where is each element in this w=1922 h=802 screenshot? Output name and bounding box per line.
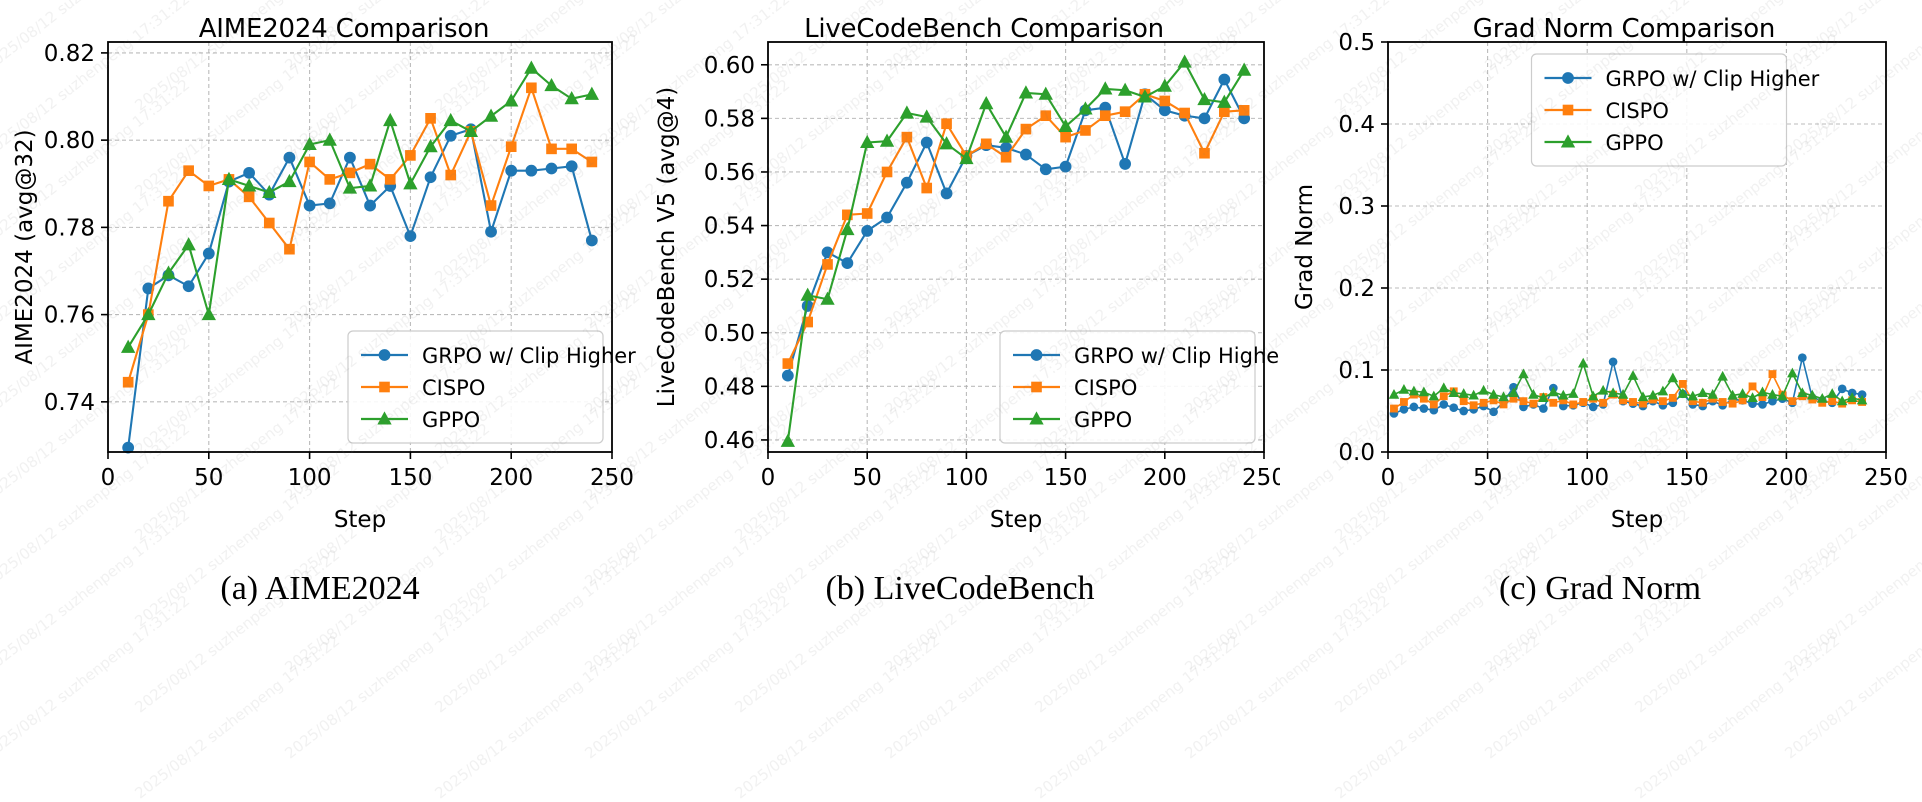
data-point-cispo [486, 200, 497, 211]
legend-label: CISPO [1074, 376, 1137, 400]
data-point-cispo [1500, 401, 1508, 409]
data-point-grpo-w-clip-higher [284, 152, 296, 164]
legend-label: CISPO [1606, 99, 1669, 123]
data-point-cispo [1669, 394, 1677, 402]
data-point-cispo [506, 141, 517, 152]
data-point-cispo [981, 139, 992, 150]
figure-row: AIME2024 Comparison 0501001502002500.740… [0, 0, 1922, 700]
data-point-cispo [862, 208, 873, 219]
data-point-grpo-w-clip-higher [1589, 403, 1598, 412]
legend-marker-square [1031, 382, 1042, 393]
x-axis-label: Step [1611, 507, 1663, 533]
data-point-cispo [425, 113, 436, 124]
subfigure-caption-c: (c) Grad Norm [1280, 570, 1920, 608]
panel-livecodebench: LiveCodeBench Comparison 050100150200250… [640, 0, 1280, 700]
chart-canvas-aime2024: 0501001502002500.740.760.780.800.82StepA… [0, 0, 640, 610]
data-point-grpo-w-clip-higher [1420, 404, 1429, 413]
data-point-cispo [1179, 108, 1190, 119]
y-tick-label: 0.58 [704, 106, 755, 132]
x-tick-label: 50 [1473, 465, 1502, 491]
legend: GRPO w/ Clip HigherCISPOGPPO [348, 331, 636, 443]
x-tick-label: 150 [388, 465, 432, 491]
data-point-grpo-w-clip-higher [525, 165, 537, 177]
data-point-cispo [1769, 370, 1777, 378]
x-tick-label: 150 [1665, 465, 1709, 491]
y-tick-label: 0.1 [1338, 358, 1375, 384]
data-point-cispo [183, 165, 194, 176]
data-point-cispo [365, 159, 376, 170]
data-point-grpo-w-clip-higher [1060, 161, 1072, 173]
data-point-cispo [244, 192, 255, 203]
x-tick-label: 0 [1381, 465, 1396, 491]
data-point-grpo-w-clip-higher [1838, 385, 1847, 394]
data-point-cispo [526, 82, 537, 93]
data-point-grpo-w-clip-higher [1040, 163, 1052, 175]
y-tick-label: 0.5 [1338, 30, 1375, 56]
legend-marker-circle [1562, 72, 1574, 84]
x-tick-label: 150 [1044, 465, 1088, 491]
data-point-grpo-w-clip-higher [505, 165, 517, 177]
data-point-cispo [324, 174, 335, 185]
legend: GRPO w/ Clip HigherCISPOGPPO [1532, 54, 1820, 166]
data-point-grpo-w-clip-higher [1119, 158, 1131, 170]
data-point-cispo [304, 157, 315, 168]
y-tick-label: 0.52 [704, 267, 755, 293]
legend: GRPO w/ Clip HigherCISPOGPPO [1000, 331, 1280, 443]
data-point-grpo-w-clip-higher [566, 160, 578, 172]
data-point-cispo [1440, 392, 1448, 400]
data-point-cispo [1659, 397, 1667, 405]
data-point-grpo-w-clip-higher [921, 137, 933, 149]
x-tick-label: 200 [489, 465, 533, 491]
y-tick-label: 0.76 [44, 303, 95, 329]
y-tick-label: 0.48 [704, 374, 755, 400]
x-tick-label: 250 [590, 465, 634, 491]
legend-marker-circle [379, 349, 391, 361]
y-tick-label: 0.3 [1338, 194, 1375, 220]
data-point-grpo-w-clip-higher [1400, 405, 1409, 414]
data-point-cispo [1460, 397, 1468, 405]
data-point-cispo [1199, 148, 1210, 159]
x-axis-label: Step [990, 507, 1042, 533]
data-point-cispo [1060, 132, 1071, 143]
data-point-cispo [1040, 110, 1051, 121]
data-point-cispo [1480, 399, 1488, 407]
data-point-cispo [1749, 382, 1757, 390]
data-point-cispo [385, 174, 396, 185]
data-point-cispo [566, 144, 577, 155]
data-point-cispo [405, 150, 416, 161]
y-tick-label: 0.82 [44, 41, 95, 67]
data-point-grpo-w-clip-higher [485, 226, 497, 238]
legend-label: CISPO [422, 376, 485, 400]
panel-gradnorm: Grad Norm Comparison 0501001502002500.00… [1280, 0, 1920, 700]
legend-label: GRPO w/ Clip Higher [1606, 67, 1820, 91]
data-point-cispo [1430, 401, 1438, 409]
legend-label: GRPO w/ Clip Higher [1074, 344, 1280, 368]
axes-gradnorm: 0501001502002500.00.10.20.30.40.5StepGra… [1280, 0, 1920, 610]
data-point-cispo [1120, 106, 1131, 117]
data-point-cispo [1719, 398, 1727, 406]
y-tick-label: 0.50 [704, 321, 755, 347]
y-tick-label: 0.78 [44, 215, 95, 241]
legend-label: GPPO [1606, 131, 1664, 155]
data-point-cispo [1219, 106, 1230, 117]
data-point-cispo [1699, 399, 1707, 407]
legend-label: GRPO w/ Clip Higher [422, 344, 636, 368]
data-point-grpo-w-clip-higher [243, 167, 255, 179]
data-point-cispo [1828, 397, 1836, 405]
data-point-grpo-w-clip-higher [1449, 403, 1458, 412]
data-point-cispo [1599, 399, 1607, 407]
data-point-cispo [1400, 398, 1408, 406]
data-point-cispo [1529, 400, 1537, 408]
x-tick-label: 100 [1565, 465, 1609, 491]
data-point-grpo-w-clip-higher [183, 280, 195, 292]
legend-label: GPPO [1074, 408, 1132, 432]
x-tick-label: 0 [101, 465, 116, 491]
data-point-grpo-w-clip-higher [425, 171, 437, 183]
y-tick-label: 0.0 [1338, 440, 1375, 466]
y-tick-label: 0.2 [1338, 276, 1375, 302]
data-point-cispo [783, 358, 794, 369]
data-point-grpo-w-clip-higher [841, 257, 853, 269]
data-point-grpo-w-clip-higher [1609, 357, 1618, 366]
legend-marker-square [1563, 105, 1574, 116]
data-point-grpo-w-clip-higher [861, 225, 873, 237]
data-point-grpo-w-clip-higher [405, 230, 417, 242]
data-point-grpo-w-clip-higher [881, 212, 893, 224]
data-point-grpo-w-clip-higher [1218, 74, 1230, 86]
data-point-cispo [921, 183, 932, 194]
data-point-cispo [1021, 124, 1032, 135]
y-tick-label: 0.80 [44, 128, 95, 154]
data-point-cispo [1239, 105, 1250, 116]
x-axis-label: Step [334, 507, 386, 533]
x-tick-label: 200 [1143, 465, 1187, 491]
data-point-grpo-w-clip-higher [203, 248, 215, 260]
data-point-cispo [1729, 400, 1737, 408]
data-point-grpo-w-clip-higher [364, 200, 376, 212]
data-point-cispo [902, 132, 913, 143]
data-point-grpo-w-clip-higher [324, 197, 336, 209]
y-tick-label: 0.4 [1338, 112, 1375, 138]
x-tick-label: 250 [1864, 465, 1908, 491]
data-point-cispo [163, 196, 174, 207]
y-tick-label: 0.56 [704, 160, 755, 186]
data-point-cispo [1579, 398, 1587, 406]
data-point-grpo-w-clip-higher [304, 200, 316, 212]
data-point-cispo [123, 377, 134, 388]
x-tick-label: 200 [1764, 465, 1808, 491]
axes-aime2024: 0501001502002500.740.760.780.800.82StepA… [0, 0, 640, 610]
data-point-grpo-w-clip-higher [941, 188, 953, 200]
y-axis-label: Grad Norm [1292, 184, 1318, 310]
data-point-grpo-w-clip-higher [1758, 400, 1767, 409]
data-point-cispo [1569, 401, 1577, 409]
data-point-cispo [546, 144, 557, 155]
data-point-cispo [284, 244, 295, 255]
data-point-cispo [941, 118, 952, 129]
data-point-cispo [1159, 96, 1170, 107]
data-point-cispo [882, 167, 893, 178]
data-point-cispo [1549, 399, 1557, 407]
data-point-grpo-w-clip-higher [782, 370, 794, 382]
x-tick-label: 50 [194, 465, 223, 491]
data-point-grpo-w-clip-higher [901, 177, 913, 189]
data-point-grpo-w-clip-higher [1539, 404, 1548, 413]
data-point-cispo [1629, 398, 1637, 406]
subfigure-caption-b: (b) LiveCodeBench [640, 570, 1280, 608]
data-point-cispo [1390, 405, 1398, 413]
chart-canvas-gradnorm: 0501001502002500.00.10.20.30.40.5StepGra… [1280, 0, 1920, 610]
data-point-cispo [1520, 397, 1528, 405]
legend-marker-square [379, 382, 390, 393]
data-point-grpo-w-clip-higher [1489, 407, 1498, 416]
axes-livecodebench: 0501001502002500.460.480.500.520.540.560… [640, 0, 1280, 610]
y-axis-label: AIME2024 (avg@32) [12, 129, 38, 364]
x-tick-label: 100 [944, 465, 988, 491]
x-tick-label: 0 [761, 465, 776, 491]
data-point-grpo-w-clip-higher [1020, 149, 1032, 161]
data-point-cispo [587, 157, 598, 168]
data-point-grpo-w-clip-higher [1798, 353, 1807, 362]
data-point-cispo [1788, 397, 1796, 405]
chart-canvas-livecodebench: 0501001502002500.460.480.500.520.540.560… [640, 0, 1280, 610]
data-point-cispo [264, 218, 275, 229]
data-point-grpo-w-clip-higher [445, 130, 457, 142]
data-point-grpo-w-clip-higher [546, 163, 558, 175]
data-point-grpo-w-clip-higher [1410, 403, 1419, 412]
data-point-cispo [1470, 401, 1478, 409]
data-point-grpo-w-clip-higher [586, 235, 598, 247]
data-point-cispo [1100, 110, 1111, 121]
data-point-cispo [445, 170, 456, 181]
x-tick-label: 250 [1242, 465, 1280, 491]
legend-label: GPPO [422, 408, 480, 432]
x-tick-label: 50 [853, 465, 882, 491]
y-tick-label: 0.60 [704, 53, 755, 79]
y-tick-label: 0.46 [704, 428, 755, 454]
data-point-cispo [1679, 380, 1687, 388]
x-tick-label: 100 [288, 465, 332, 491]
panel-aime2024: AIME2024 Comparison 0501001502002500.740… [0, 0, 640, 700]
data-point-grpo-w-clip-higher [1439, 400, 1448, 409]
data-point-cispo [1080, 125, 1091, 136]
data-point-grpo-w-clip-higher [1459, 407, 1468, 416]
legend-marker-circle [1031, 349, 1043, 361]
data-point-grpo-w-clip-higher [1199, 112, 1211, 124]
data-point-cispo [1001, 152, 1012, 163]
data-point-cispo [203, 181, 214, 192]
subfigure-caption-a: (a) AIME2024 [0, 570, 640, 608]
y-tick-label: 0.54 [704, 214, 755, 240]
y-axis-label: LiveCodeBench V5 (avg@4) [654, 87, 680, 407]
y-tick-label: 0.74 [44, 390, 95, 416]
data-point-cispo [822, 259, 833, 270]
data-point-grpo-w-clip-higher [344, 152, 356, 164]
